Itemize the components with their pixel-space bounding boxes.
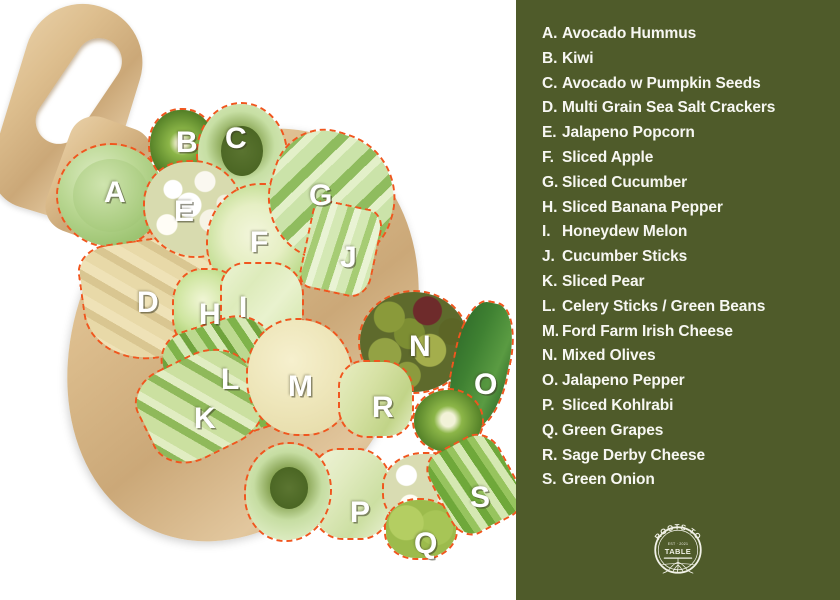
brand-logo: ROOTS TO EST · 2021 TABLE (644, 516, 712, 584)
legend-item-c: C. Avocado w Pumpkin Seeds (542, 72, 840, 97)
logo-established: EST · 2021 (668, 542, 688, 546)
legend-label-r: Sage Derby Cheese (562, 444, 840, 469)
food-region-avocado-pumpkin-seeds-lower (244, 442, 332, 542)
legend-key-g: G. (542, 171, 562, 196)
greens-board-infographic: Irish Greens Board (0, 0, 840, 600)
legend-label-j: Cucumber Sticks (562, 245, 840, 270)
legend-item-f: F. Sliced Apple (542, 146, 840, 171)
legend-key-d: D. (542, 96, 562, 121)
legend-key-q: Q. (542, 419, 562, 444)
legend-label-b: Kiwi (562, 47, 840, 72)
legend-label-m: Ford Farm Irish Cheese (562, 320, 840, 345)
legend-label-e: Jalapeno Popcorn (562, 121, 840, 146)
food-region-ford-farm-irish-cheese (246, 318, 354, 436)
legend-item-s: S. Green Onion (542, 468, 840, 493)
legend-item-o: O. Jalapeno Pepper (542, 369, 840, 394)
legend-item-l: L. Celery Sticks / Green Beans (542, 295, 840, 320)
logo-arc-text: ROOTS TO (653, 523, 703, 542)
legend-panel: A. Avocado Hummus B. Kiwi C. Avocado w P… (516, 0, 840, 600)
legend-item-i: I. Honeydew Melon (542, 220, 840, 245)
legend-key-i: I. (542, 220, 562, 245)
charcuterie-board-photo: A B C D E F G H I J K L M N O P Q R S (0, 0, 516, 600)
legend-list: A. Avocado Hummus B. Kiwi C. Avocado w P… (542, 22, 840, 493)
legend-label-f: Sliced Apple (562, 146, 840, 171)
legend-key-f: F. (542, 146, 562, 171)
legend-label-h: Sliced Banana Pepper (562, 196, 840, 221)
legend-item-d: D. Multi Grain Sea Salt Crackers (542, 96, 840, 121)
legend-label-i: Honeydew Melon (562, 220, 840, 245)
legend-key-n: N. (542, 344, 562, 369)
legend-label-n: Mixed Olives (562, 344, 840, 369)
legend-key-h: H. (542, 196, 562, 221)
legend-item-e: E. Jalapeno Popcorn (542, 121, 840, 146)
legend-label-o: Jalapeno Pepper (562, 369, 840, 394)
legend-key-m: M. (542, 320, 562, 345)
legend-key-c: C. (542, 72, 562, 97)
legend-label-d: Multi Grain Sea Salt Crackers (562, 96, 840, 121)
legend-item-n: N. Mixed Olives (542, 344, 840, 369)
legend-key-j: J. (542, 245, 562, 270)
legend-key-a: A. (542, 22, 562, 47)
svg-text:ROOTS TO: ROOTS TO (653, 523, 703, 542)
legend-item-j: J. Cucumber Sticks (542, 245, 840, 270)
legend-item-r: R. Sage Derby Cheese (542, 444, 840, 469)
legend-item-k: K. Sliced Pear (542, 270, 840, 295)
legend-item-m: M. Ford Farm Irish Cheese (542, 320, 840, 345)
legend-key-r: R. (542, 444, 562, 469)
legend-key-k: K. (542, 270, 562, 295)
legend-key-l: L. (542, 295, 562, 320)
legend-key-o: O. (542, 369, 562, 394)
legend-key-b: B. (542, 47, 562, 72)
legend-item-h: H. Sliced Banana Pepper (542, 196, 840, 221)
legend-label-c: Avocado w Pumpkin Seeds (562, 72, 840, 97)
legend-label-p: Sliced Kohlrabi (562, 394, 840, 419)
legend-item-q: Q. Green Grapes (542, 419, 840, 444)
legend-label-s: Green Onion (562, 468, 840, 493)
legend-label-a: Avocado Hummus (562, 22, 840, 47)
legend-item-a: A. Avocado Hummus (542, 22, 840, 47)
legend-key-s: S. (542, 468, 562, 493)
legend-item-g: G. Sliced Cucumber (542, 171, 840, 196)
logo-name: TABLE (665, 547, 691, 556)
legend-key-e: E. (542, 121, 562, 146)
legend-item-p: P. Sliced Kohlrabi (542, 394, 840, 419)
food-region-sage-derby-cheese (338, 360, 414, 438)
legend-item-b: B. Kiwi (542, 47, 840, 72)
legend-label-k: Sliced Pear (562, 270, 840, 295)
legend-label-g: Sliced Cucumber (562, 171, 840, 196)
legend-label-l: Celery Sticks / Green Beans (562, 295, 840, 320)
legend-label-q: Green Grapes (562, 419, 840, 444)
legend-key-p: P. (542, 394, 562, 419)
